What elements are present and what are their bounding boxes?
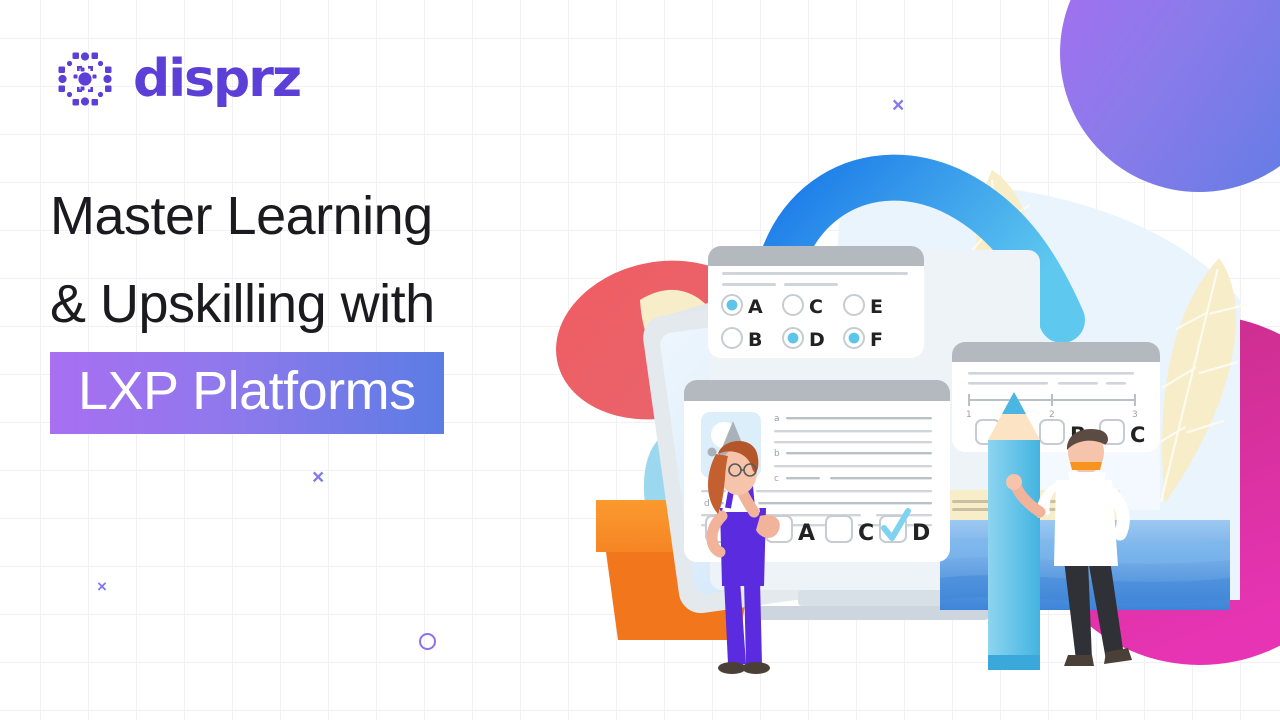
headline-highlight: LXP Platforms bbox=[50, 352, 444, 434]
svg-text:a: a bbox=[774, 414, 780, 424]
svg-text:c: c bbox=[774, 474, 779, 484]
svg-text:A: A bbox=[748, 296, 763, 318]
scale-question-card: 1 2 3 A B C bbox=[952, 342, 1160, 452]
svg-text:E: E bbox=[870, 296, 883, 318]
headline-line-2: & Upskilling with bbox=[50, 260, 444, 348]
svg-text:B: B bbox=[748, 329, 762, 351]
radio-question-card: A C E B D F bbox=[708, 246, 924, 358]
radio-dot-d-icon bbox=[788, 333, 799, 344]
svg-text:C: C bbox=[858, 521, 874, 546]
radio-dot-f-icon bbox=[849, 333, 860, 344]
x-mark-icon: × bbox=[312, 467, 324, 488]
svg-text:C: C bbox=[809, 296, 823, 318]
svg-text:A: A bbox=[798, 521, 815, 546]
svg-text:2: 2 bbox=[1049, 410, 1055, 420]
svg-text:C: C bbox=[1130, 423, 1145, 447]
svg-text:D: D bbox=[809, 329, 825, 351]
headline-line-1: Master Learning bbox=[50, 172, 444, 260]
svg-text:3: 3 bbox=[1132, 410, 1138, 420]
svg-text:b: b bbox=[774, 449, 780, 459]
blue-pencil bbox=[988, 392, 1040, 670]
page-title: Master Learning & Upskilling with LXP Pl… bbox=[50, 172, 444, 434]
brand-logo[interactable]: disprz bbox=[50, 44, 300, 114]
disprz-snowflake-mark-icon bbox=[50, 44, 120, 114]
quiz-assessment-illustration: A C E B D F a b bbox=[540, 0, 1280, 720]
svg-text:F: F bbox=[870, 329, 883, 351]
circle-outline-icon bbox=[419, 633, 436, 650]
svg-text:d: d bbox=[704, 499, 710, 509]
brand-wordmark: disprz bbox=[133, 53, 300, 105]
svg-text:D: D bbox=[912, 521, 930, 546]
svg-text:1: 1 bbox=[966, 410, 972, 420]
radio-dot-a-icon bbox=[727, 300, 738, 311]
x-mark-icon: × bbox=[97, 578, 107, 595]
